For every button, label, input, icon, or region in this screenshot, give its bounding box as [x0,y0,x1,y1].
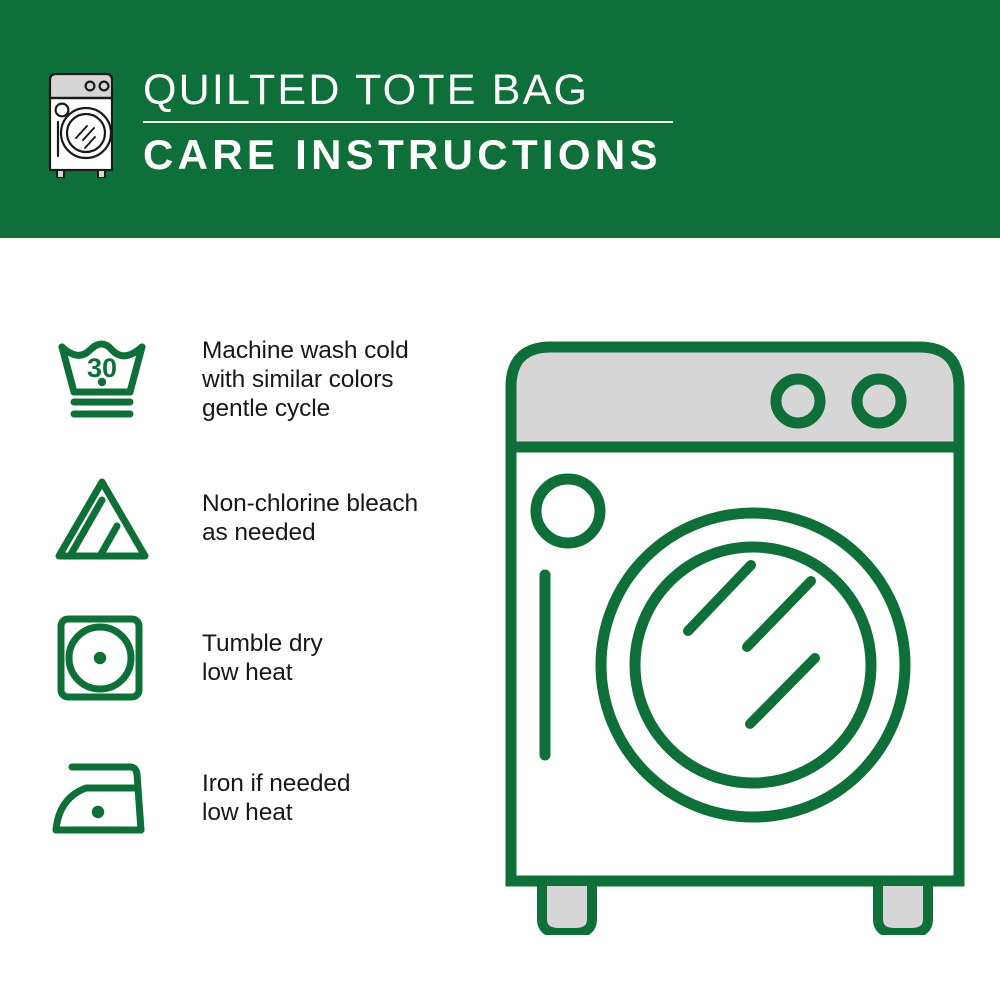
care-instructions-list: 30 Machine wash cold with similar colors… [50,330,470,890]
instruction-label-tumble-dry: Tumble dry low heat [202,629,323,687]
instruction-row-bleach: Non-chlorine bleach as needed [50,470,470,566]
instruction-label-bleach: Non-chlorine bleach as needed [202,489,418,547]
header-banner: QUILTED TOTE BAG CARE INSTRUCTIONS [0,0,1000,238]
header-content: QUILTED TOTE BAG CARE INSTRUCTIONS [45,64,673,178]
product-title: QUILTED TOTE BAG [143,66,673,114]
page-title: CARE INSTRUCTIONS [143,132,673,178]
header-title-block: QUILTED TOTE BAG CARE INSTRUCTIONS [143,64,673,178]
instruction-label-iron: Iron if needed low heat [202,769,350,827]
machine-wash-30-gentle-icon: 30 [50,330,160,426]
iron-low-heat-icon [50,750,160,846]
leg-right [878,881,928,933]
tumble-dry-low-heat-icon [50,610,160,706]
instruction-row-tumble-dry: Tumble dry low heat [50,610,470,706]
instruction-row-machine-wash: 30 Machine wash cold with similar colors… [50,330,470,426]
non-chlorine-bleach-triangle-icon [50,470,160,566]
control-panel [511,347,959,447]
front-load-washing-machine-illustration [495,335,975,935]
instruction-row-iron: Iron if needed low heat [50,750,470,846]
leg-left [542,881,592,933]
washing-machine-icon [45,68,121,178]
instruction-label-machine-wash: Machine wash cold with similar colors ge… [202,336,409,423]
title-divider [143,121,673,123]
